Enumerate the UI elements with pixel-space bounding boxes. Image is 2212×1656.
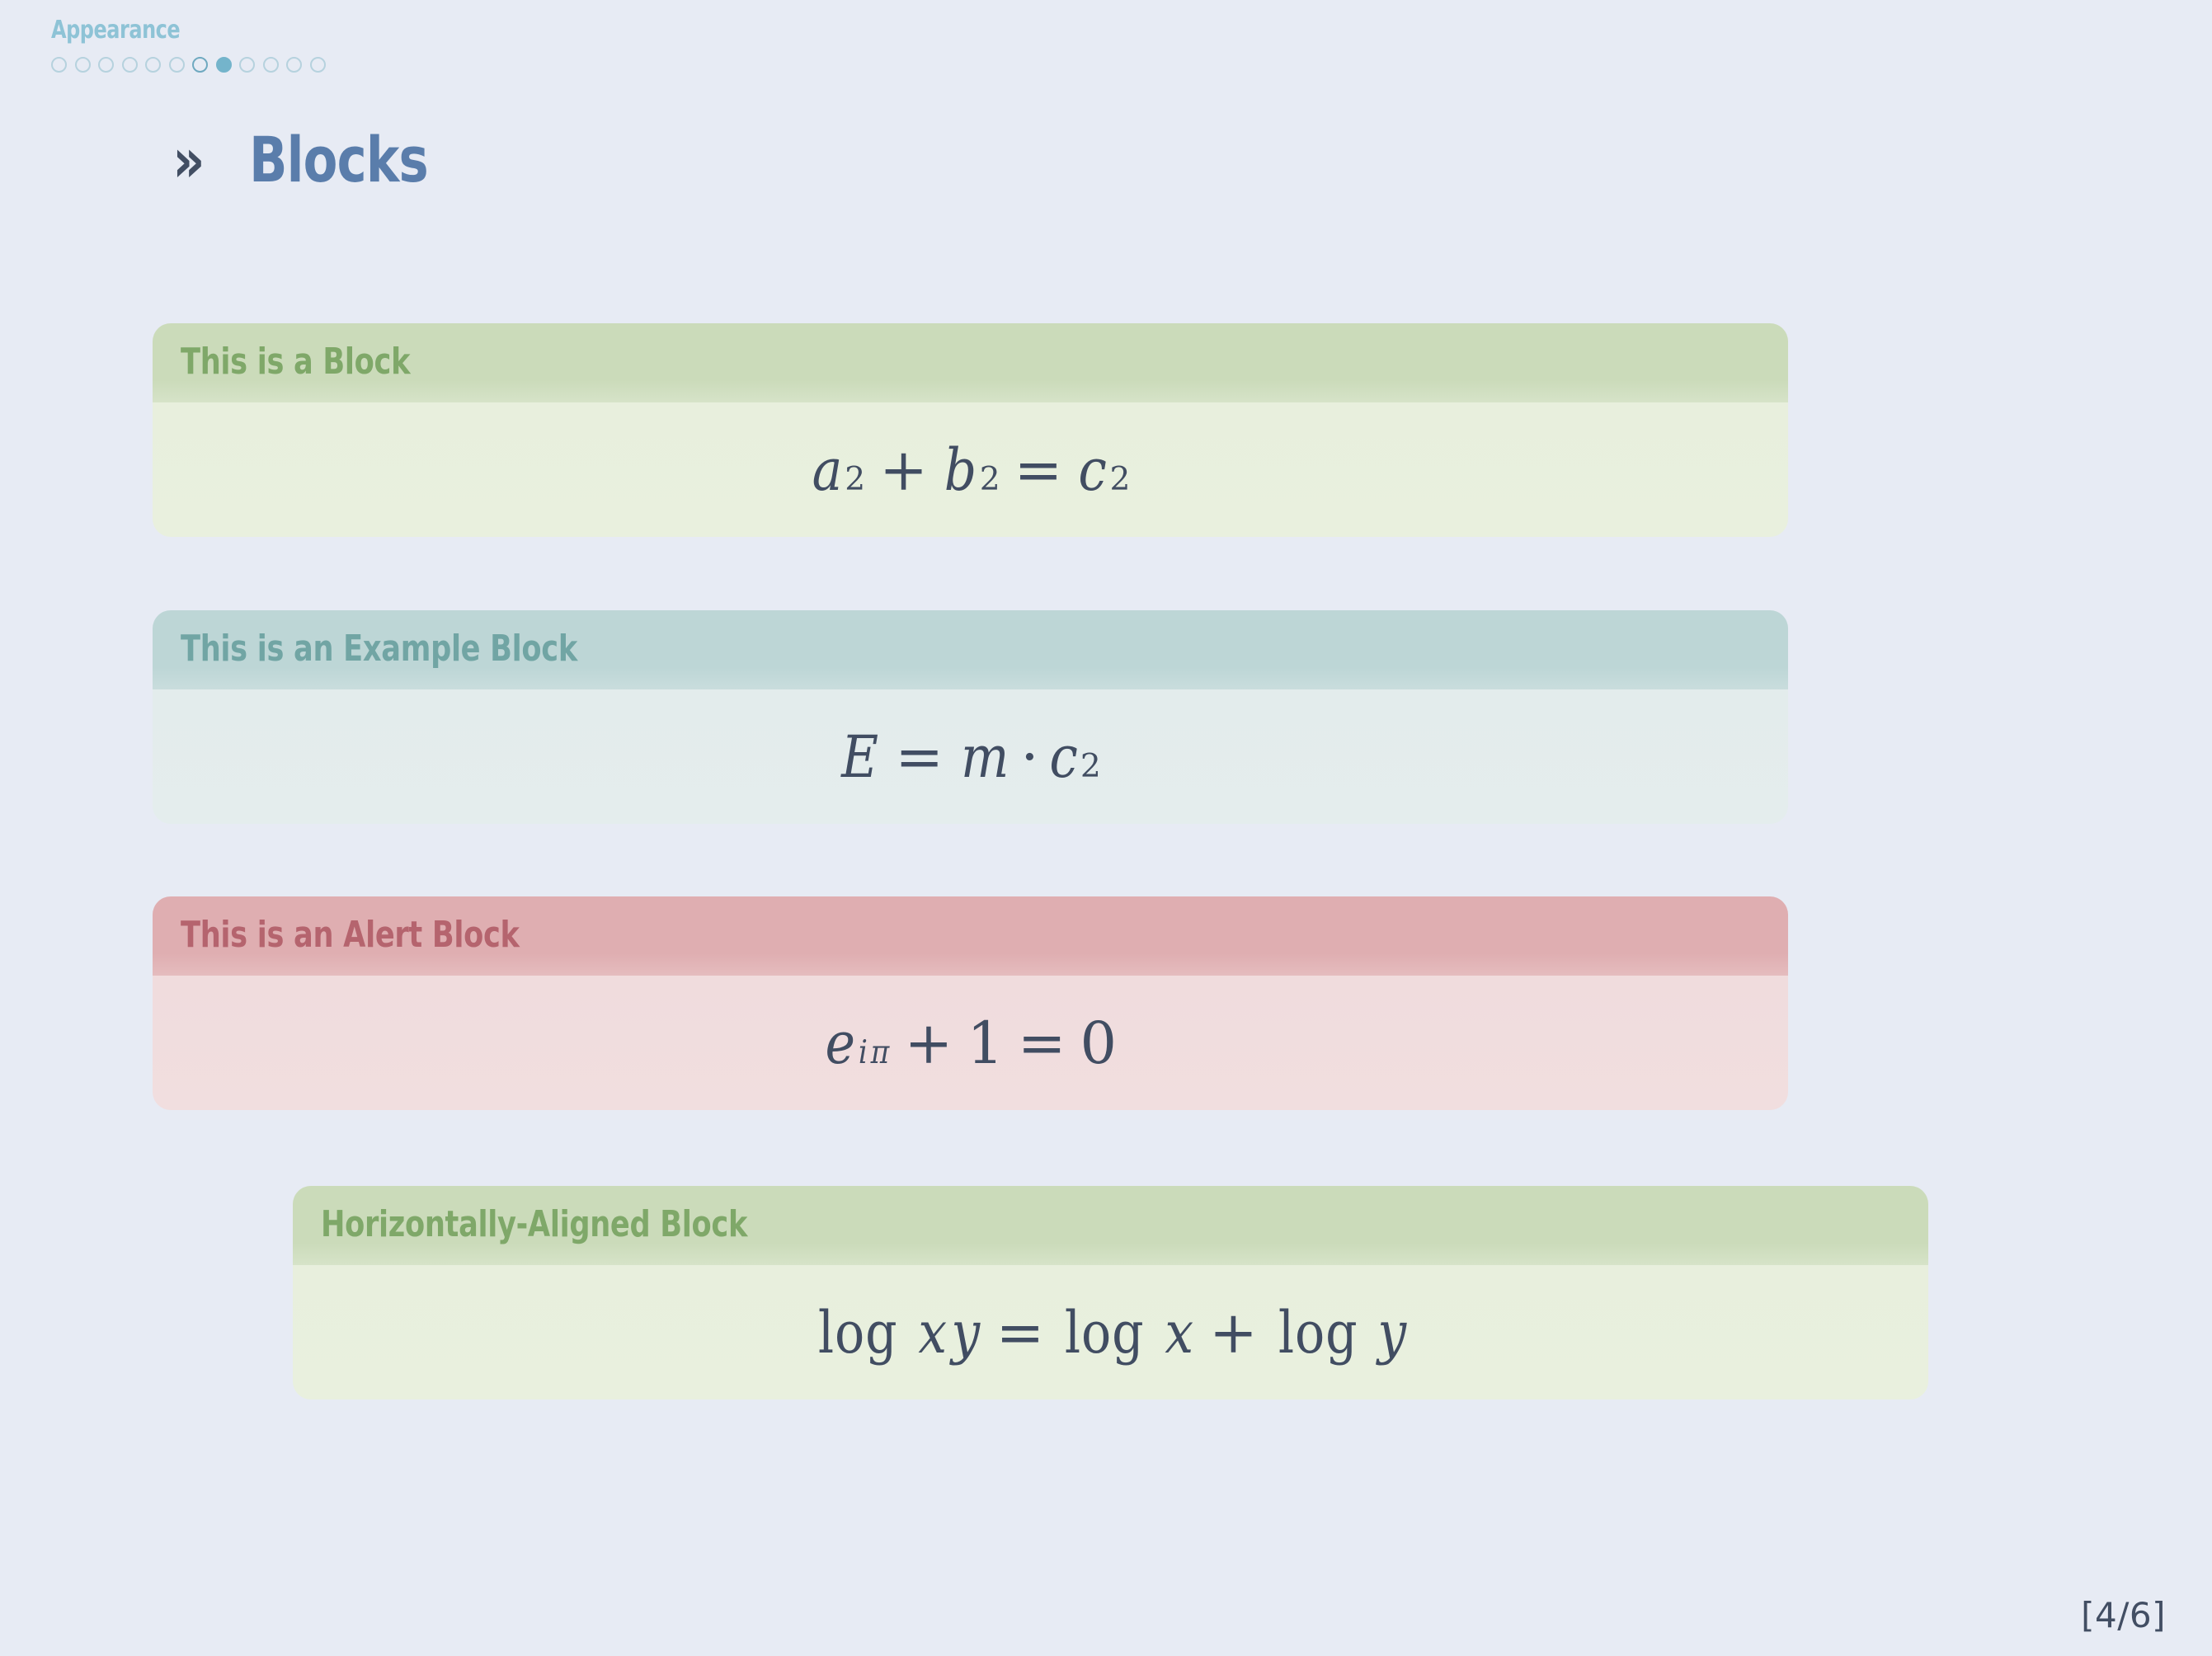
formula-term-y-2: y bbox=[1378, 1304, 1408, 1362]
formula-term-a: a bbox=[812, 441, 843, 499]
progress-dot-1[interactable] bbox=[51, 57, 67, 73]
progress-dot-8-current[interactable] bbox=[216, 57, 232, 73]
formula-term-c: c bbox=[1079, 441, 1108, 499]
block-example-body: E = m · c2 bbox=[153, 689, 1788, 824]
formula-op-equals: = bbox=[895, 728, 944, 786]
formula-term-c: c bbox=[1049, 728, 1078, 786]
formula-fn-log-3: log bbox=[1278, 1304, 1358, 1362]
block-example: This is an Example Block E = m · c2 bbox=[153, 610, 1788, 824]
formula-term-e: e bbox=[825, 1014, 855, 1072]
formula-op-plus: + bbox=[905, 1014, 954, 1072]
progress-dot-9[interactable] bbox=[239, 57, 255, 73]
formula-term-m: m bbox=[961, 728, 1010, 786]
frame-title: » Blocks bbox=[169, 129, 450, 191]
progress-dots[interactable] bbox=[51, 54, 1041, 75]
formula-op-cdot: · bbox=[1020, 728, 1039, 786]
progress-dot-10[interactable] bbox=[263, 57, 279, 73]
page-number: [4/6] bbox=[2081, 1598, 2166, 1633]
block-example-title: This is an Example Block bbox=[153, 610, 1788, 689]
formula-term-zero: 0 bbox=[1080, 1014, 1118, 1072]
formula-pythagoras: a2 + b2 = c2 bbox=[810, 441, 1132, 499]
block-alert-body: eiπ + 1 = 0 bbox=[153, 976, 1788, 1110]
block-alert-title: This is an Alert Block bbox=[153, 896, 1788, 976]
progress-dot-7[interactable] bbox=[192, 57, 208, 73]
formula-term-x-2: x bbox=[1165, 1304, 1194, 1362]
formula-fn-log-2: log bbox=[1065, 1304, 1145, 1362]
formula-euler-identity: eiπ + 1 = 0 bbox=[823, 1014, 1118, 1072]
progress-dot-3[interactable] bbox=[98, 57, 114, 73]
block-standard: This is a Block a2 + b2 = c2 bbox=[153, 323, 1788, 537]
progress-dot-6[interactable] bbox=[169, 57, 185, 73]
block-standard-body: a2 + b2 = c2 bbox=[153, 402, 1788, 537]
block-alert: This is an Alert Block eiπ + 1 = 0 bbox=[153, 896, 1788, 1110]
formula-term-one: 1 bbox=[967, 1014, 1005, 1072]
title-marker-icon: » bbox=[172, 130, 205, 191]
block-standard-title: This is a Block bbox=[153, 323, 1788, 402]
block-horizontally-aligned: Horizontally-Aligned Block logxy = logx … bbox=[293, 1186, 1928, 1400]
formula-mass-energy: E = m · c2 bbox=[839, 728, 1102, 786]
block-horizontally-aligned-title: Horizontally-Aligned Block bbox=[293, 1186, 1928, 1265]
formula-logarithm: logxy = logx + logy bbox=[812, 1304, 1409, 1362]
progress-dot-11[interactable] bbox=[286, 57, 302, 73]
formula-op-equals: = bbox=[996, 1304, 1046, 1362]
progress-dot-12[interactable] bbox=[310, 57, 326, 73]
formula-op-plus: + bbox=[1209, 1304, 1259, 1362]
formula-term-y-1: y bbox=[952, 1304, 981, 1362]
progress-dot-4[interactable] bbox=[122, 57, 138, 73]
formula-op-equals: = bbox=[1018, 1014, 1067, 1072]
page-title: Blocks bbox=[249, 129, 428, 191]
formula-fn-log-1: log bbox=[818, 1304, 898, 1362]
formula-op-plus: + bbox=[879, 441, 929, 499]
progress-dot-2[interactable] bbox=[75, 57, 91, 73]
formula-term-E: E bbox=[841, 728, 879, 786]
formula-term-b: b bbox=[944, 441, 977, 499]
formula-term-x-1: x bbox=[918, 1304, 948, 1362]
block-horizontally-aligned-body: logxy = logx + logy bbox=[293, 1265, 1928, 1400]
formula-op-equals: = bbox=[1014, 441, 1064, 499]
slide-header: Appearance bbox=[51, 18, 1041, 75]
section-name-label: Appearance bbox=[51, 18, 843, 43]
progress-dot-5[interactable] bbox=[145, 57, 161, 73]
